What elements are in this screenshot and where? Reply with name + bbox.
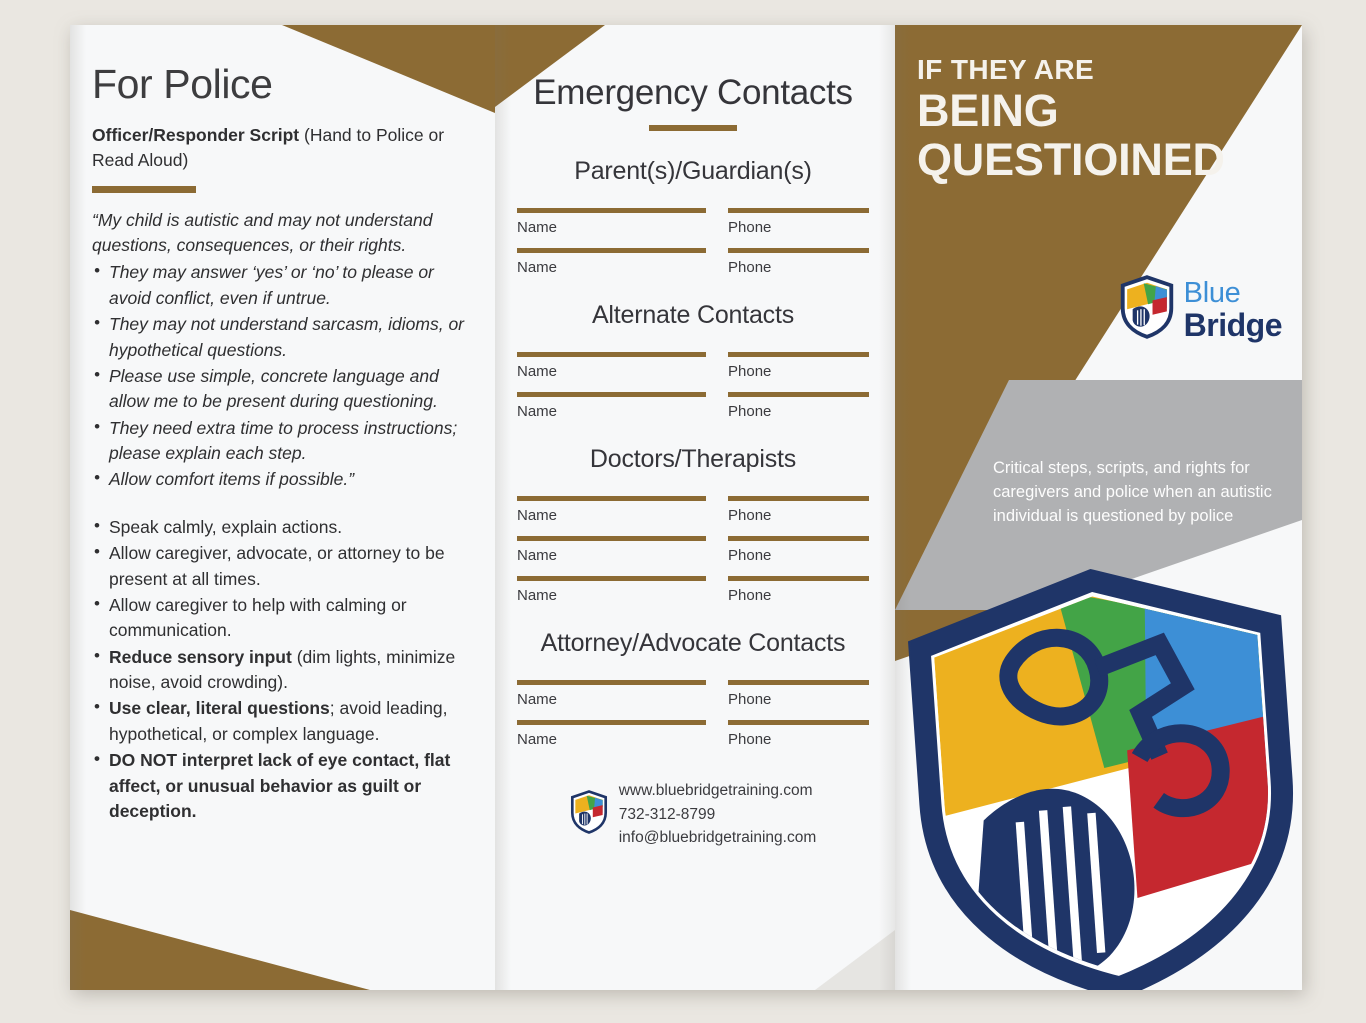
write-in-rule (517, 576, 706, 581)
name-write-in-field[interactable]: Name (517, 496, 706, 523)
phone-write-in-field[interactable]: Phone (728, 352, 869, 379)
police-action-bullet-emphasis: Use clear, literal questions (109, 698, 330, 718)
contact-section: Attorney/Advocate ContactsNamePhoneNameP… (517, 629, 869, 747)
police-action-bullet: Speak calmly, explain actions. (92, 515, 465, 540)
write-in-rule (728, 536, 869, 541)
write-in-rule (517, 496, 706, 501)
write-in-rule (728, 248, 869, 253)
name-write-in-field[interactable]: Name (517, 208, 706, 235)
field-label: Name (517, 260, 706, 275)
police-action-bullet: Allow caregiver, advocate, or attorney t… (92, 541, 465, 592)
gold-accent-rule-contacts (649, 125, 737, 131)
panel-for-police: For Police Officer/Responder Script (Han… (70, 25, 495, 990)
script-quote-bullet-list: They may answer ‘yes’ or ‘no’ to please … (92, 260, 465, 492)
field-label: Name (517, 364, 706, 379)
contact-section: Parent(s)/Guardian(s)NamePhoneNamePhone (517, 157, 869, 275)
police-action-bullet: Use clear, literal questions; avoid lead… (92, 696, 465, 747)
police-action-bullet-list: Speak calmly, explain actions.Allow care… (92, 515, 465, 825)
contact-field-row: NamePhone (517, 392, 869, 419)
script-quote-bullet: They may answer ‘yes’ or ‘no’ to please … (92, 260, 465, 311)
field-label: Phone (728, 260, 869, 275)
script-quote-bullet: Allow comfort items if possible.” (92, 467, 465, 492)
field-label: Phone (728, 548, 869, 563)
field-label: Name (517, 692, 706, 707)
phone-write-in-field[interactable]: Phone (728, 576, 869, 603)
name-write-in-field[interactable]: Name (517, 248, 706, 275)
write-in-rule (728, 392, 869, 397)
write-in-rule (728, 208, 869, 213)
police-action-bullet: DO NOT interpret lack of eye contact, fl… (92, 748, 465, 824)
field-label: Phone (728, 220, 869, 235)
footer-phone[interactable]: 732-312-8799 (619, 803, 817, 827)
field-label: Phone (728, 732, 869, 747)
contact-sections-container: Parent(s)/Guardian(s)NamePhoneNamePhoneA… (517, 157, 869, 747)
write-in-rule (517, 680, 706, 685)
blue-bridge-shield-icon-small (570, 790, 608, 839)
field-label: Name (517, 220, 706, 235)
contact-field-row: NamePhone (517, 248, 869, 275)
script-quote-bullet: Please use simple, concrete language and… (92, 364, 465, 415)
write-in-rule (728, 576, 869, 581)
contact-field-row: NamePhone (517, 536, 869, 563)
brand-lockup: Blue Bridge (1119, 275, 1282, 344)
contact-field-row: NamePhone (517, 352, 869, 379)
brand-name-first: Blue (1184, 279, 1282, 308)
phone-write-in-field[interactable]: Phone (728, 208, 869, 235)
write-in-rule (728, 680, 869, 685)
footer-website[interactable]: www.bluebridgetraining.com (619, 779, 817, 803)
field-label: Name (517, 588, 706, 603)
field-label: Name (517, 548, 706, 563)
script-quote-intro: “My child is autistic and may not unders… (92, 208, 465, 259)
contact-section: Doctors/TherapistsNamePhoneNamePhoneName… (517, 445, 869, 603)
name-write-in-field[interactable]: Name (517, 680, 706, 707)
contact-section-heading: Doctors/Therapists (517, 445, 869, 474)
footer-email[interactable]: info@bluebridgetraining.com (619, 826, 817, 850)
contact-field-row: NamePhone (517, 496, 869, 523)
blue-bridge-shield-icon (1119, 275, 1175, 344)
police-action-bullet: Reduce sensory input (dim lights, minimi… (92, 645, 465, 696)
phone-write-in-field[interactable]: Phone (728, 392, 869, 419)
contact-section-heading: Alternate Contacts (517, 301, 869, 330)
phone-write-in-field[interactable]: Phone (728, 248, 869, 275)
police-action-bullet-emphasis: Reduce sensory input (109, 647, 292, 667)
write-in-rule (517, 352, 706, 357)
field-label: Name (517, 732, 706, 747)
contact-field-row: NamePhone (517, 576, 869, 603)
write-in-rule (728, 496, 869, 501)
cover-headline-line1: BEING (917, 87, 1302, 136)
phone-write-in-field[interactable]: Phone (728, 496, 869, 523)
write-in-rule (517, 392, 706, 397)
field-label: Phone (728, 404, 869, 419)
field-label: Phone (728, 692, 869, 707)
field-label: Phone (728, 364, 869, 379)
contact-section-heading: Attorney/Advocate Contacts (517, 629, 869, 658)
panel-emergency-contacts: Emergency Contacts Parent(s)/Guardian(s)… (495, 25, 895, 990)
write-in-rule (728, 720, 869, 725)
phone-write-in-field[interactable]: Phone (728, 680, 869, 707)
phone-write-in-field[interactable]: Phone (728, 720, 869, 747)
police-action-bullet: Allow caregiver to help with calming or … (92, 593, 465, 644)
write-in-rule (728, 352, 869, 357)
cover-description: Critical steps, scripts, and rights for … (993, 457, 1278, 529)
cover-headline-eyebrow: IF THEY ARE (917, 55, 1302, 84)
gold-wedge-bottom-decoration (70, 910, 370, 990)
gold-accent-rule (92, 186, 196, 193)
cover-headline: IF THEY ARE BEING QUESTIOINED (895, 25, 1302, 185)
write-in-rule (517, 720, 706, 725)
cover-headline-line2: QUESTIOINED (917, 136, 1302, 185)
name-write-in-field[interactable]: Name (517, 392, 706, 419)
write-in-rule (517, 536, 706, 541)
page-title: For Police (92, 63, 465, 106)
contacts-title: Emergency Contacts (517, 73, 869, 113)
field-label: Name (517, 508, 706, 523)
field-label: Phone (728, 588, 869, 603)
page-curl-decoration (815, 930, 895, 990)
field-label: Name (517, 404, 706, 419)
name-write-in-field[interactable]: Name (517, 576, 706, 603)
panel-cover: IF THEY ARE BEING QUESTIOINED (895, 25, 1302, 990)
name-write-in-field[interactable]: Name (517, 536, 706, 563)
footer-contact-block: www.bluebridgetraining.com 732-312-8799 … (517, 779, 869, 850)
phone-write-in-field[interactable]: Phone (728, 536, 869, 563)
contact-section: Alternate ContactsNamePhoneNamePhone (517, 301, 869, 419)
officer-script-label: Officer/Responder Script (Hand to Police… (92, 123, 465, 173)
contact-field-row: NamePhone (517, 208, 869, 235)
script-quote-bullet: They may not understand sarcasm, idioms,… (92, 312, 465, 363)
contact-section-heading: Parent(s)/Guardian(s) (517, 157, 869, 186)
contact-field-row: NamePhone (517, 720, 869, 747)
write-in-rule (517, 248, 706, 253)
field-label: Phone (728, 508, 869, 523)
script-quote-bullet: They need extra time to process instruct… (92, 416, 465, 467)
brand-name-second: Bridge (1184, 309, 1282, 341)
trifold-brochure: For Police Officer/Responder Script (Han… (70, 25, 1302, 990)
write-in-rule (517, 208, 706, 213)
large-blue-bridge-shield-graphic (900, 568, 1302, 990)
name-write-in-field[interactable]: Name (517, 352, 706, 379)
contact-field-row: NamePhone (517, 680, 869, 707)
officer-script-label-bold: Officer/Responder Script (92, 125, 299, 145)
name-write-in-field[interactable]: Name (517, 720, 706, 747)
